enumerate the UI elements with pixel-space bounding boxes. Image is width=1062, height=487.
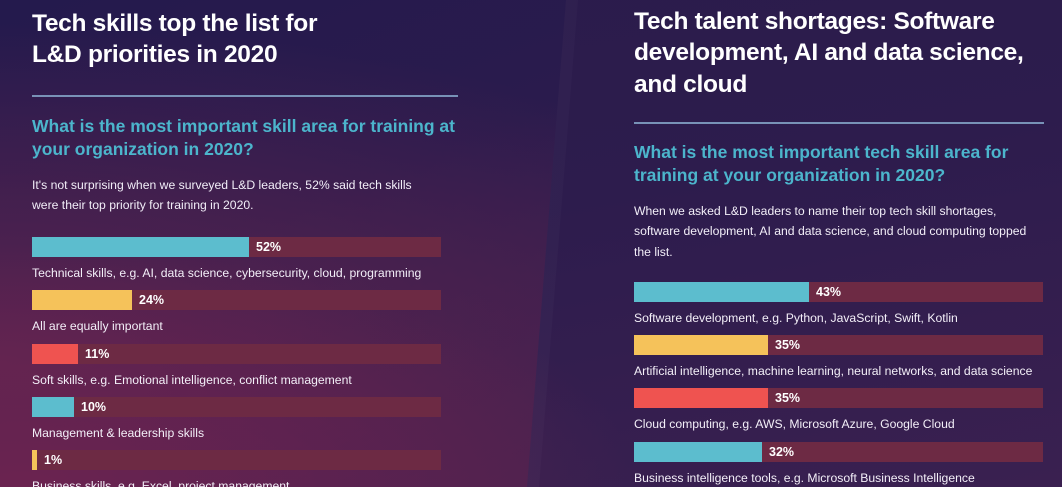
bar-label: Cloud computing, e.g. AWS, Microsoft Azu… — [634, 415, 1044, 433]
bar-value: 35% — [775, 391, 800, 405]
bar-value: 24% — [139, 293, 164, 307]
bar-value: 43% — [816, 285, 841, 299]
bar-label: Business skills, e.g. Excel, project man… — [32, 477, 458, 487]
bar-track: 10% — [32, 397, 441, 417]
left-intro-text: It's not surprising when we surveyed L&D… — [32, 175, 432, 215]
bar-fill — [32, 450, 37, 470]
right-panel: Tech talent shortages: Software developm… — [634, 0, 1044, 487]
bar-fill — [634, 442, 762, 462]
left-horizontal-rule — [32, 95, 458, 97]
bar-fill — [634, 282, 809, 302]
bar-group: 10% Management & leadership skills — [32, 397, 458, 442]
bar-value: 35% — [775, 338, 800, 352]
right-intro-text: When we asked L&D leaders to name their … — [634, 201, 1034, 261]
bar-group: 43% Software development, e.g. Python, J… — [634, 282, 1044, 327]
bar-track: 24% — [32, 290, 441, 310]
bar-track: 11% — [32, 344, 441, 364]
bar-track: 52% — [32, 237, 441, 257]
infographic-canvas: Tech skills top the list for L&D priorit… — [0, 0, 1062, 487]
bar-label: Software development, e.g. Python, JavaS… — [634, 309, 1044, 327]
right-bar-chart: 43% Software development, e.g. Python, J… — [634, 282, 1044, 487]
bar-track: 35% — [634, 335, 1043, 355]
bar-value: 11% — [85, 347, 109, 361]
bar-fill — [634, 335, 768, 355]
bar-fill — [32, 237, 249, 257]
bar-value: 52% — [256, 240, 281, 254]
left-page-title: Tech skills top the list for L&D priorit… — [32, 0, 362, 71]
bar-track: 1% — [32, 450, 441, 470]
bar-group: 52% Technical skills, e.g. AI, data scie… — [32, 237, 458, 282]
bar-label: Artificial intelligence, machine learnin… — [634, 362, 1044, 380]
bar-track: 35% — [634, 388, 1043, 408]
bar-group: 35% Cloud computing, e.g. AWS, Microsoft… — [634, 388, 1044, 433]
left-bar-chart: 52% Technical skills, e.g. AI, data scie… — [32, 237, 458, 487]
bar-value: 1% — [44, 453, 62, 467]
bar-group: 32% Business intelligence tools, e.g. Mi… — [634, 442, 1044, 487]
bar-label: Management & leadership skills — [32, 424, 458, 442]
bar-fill — [32, 290, 132, 310]
bar-fill — [32, 344, 78, 364]
bar-label: Business intelligence tools, e.g. Micros… — [634, 469, 1044, 487]
bar-track: 43% — [634, 282, 1043, 302]
bar-label: Soft skills, e.g. Emotional intelligence… — [32, 371, 458, 389]
right-horizontal-rule — [634, 122, 1044, 124]
bar-group: 35% Artificial intelligence, machine lea… — [634, 335, 1044, 380]
bar-label: All are equally important — [32, 317, 458, 335]
bar-label: Technical skills, e.g. AI, data science,… — [32, 264, 458, 282]
bar-group: 11% Soft skills, e.g. Emotional intellig… — [32, 344, 458, 389]
left-panel: Tech skills top the list for L&D priorit… — [32, 0, 458, 487]
bar-group: 24% All are equally important — [32, 290, 458, 335]
bar-group: 1% Business skills, e.g. Excel, project … — [32, 450, 458, 487]
right-question-heading: What is the most important tech skill ar… — [634, 141, 1044, 187]
bar-fill — [32, 397, 74, 417]
right-page-title: Tech talent shortages: Software developm… — [634, 0, 1024, 100]
left-question-heading: What is the most important skill area fo… — [32, 115, 458, 161]
bar-track: 32% — [634, 442, 1043, 462]
bar-fill — [634, 388, 768, 408]
bar-value: 10% — [81, 400, 106, 414]
bar-value: 32% — [769, 445, 794, 459]
